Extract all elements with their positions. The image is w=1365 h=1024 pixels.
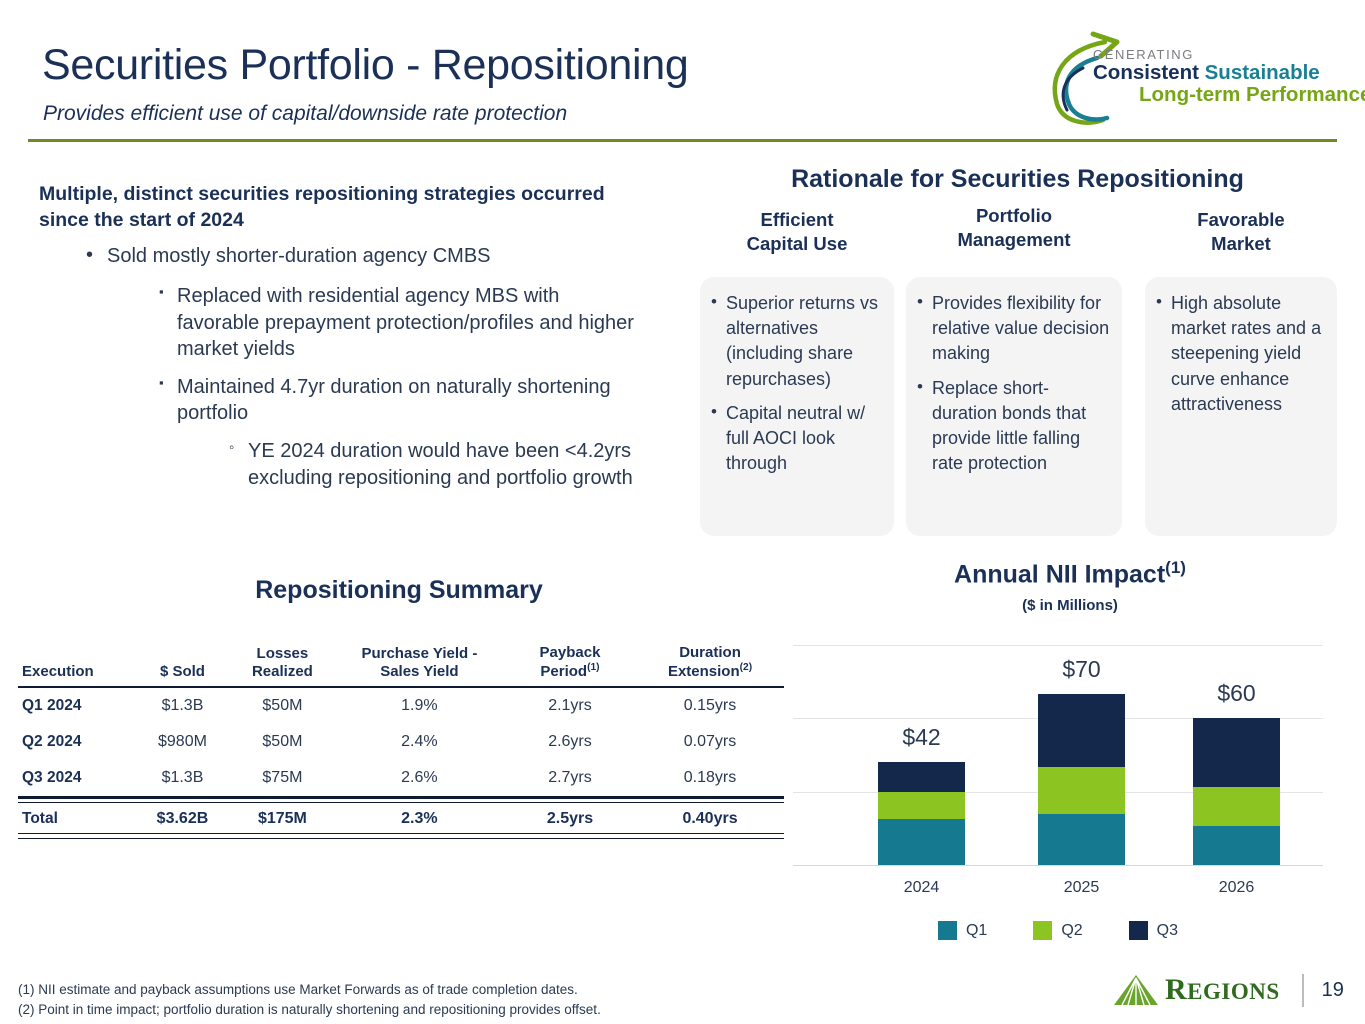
cell-execution: Q3 2024: [18, 760, 135, 798]
cell-duration: 0.07yrs: [636, 724, 784, 760]
table-total-bottom-rule: [18, 833, 784, 839]
chart-bar-2024: [878, 762, 965, 865]
cell-total-yield: 2.3%: [335, 798, 504, 838]
cell-total-duration: 0.40yrs: [636, 798, 784, 838]
col-duration-l1: Duration: [679, 644, 741, 661]
page-subtitle: Provides efficient use of capital/downsi…: [43, 102, 567, 126]
cell-duration: 0.15yrs: [636, 687, 784, 724]
cell-total-losses: $175M: [230, 798, 335, 838]
table-title: Repositioning Summary: [14, 576, 784, 605]
col-sold-l2: $ Sold: [160, 663, 205, 680]
col-yield-l1: Purchase Yield -: [361, 645, 477, 662]
col-duration-extension: Duration Extension(2): [636, 644, 784, 687]
col-losses-l2: Realized: [252, 663, 313, 680]
bullet-level3: YE 2024 duration would have been <4.2yrs…: [39, 438, 639, 491]
footnote-2: (2) Point in time impact; portfolio dura…: [18, 1000, 601, 1020]
table-total-top-rule: [18, 797, 784, 803]
rationale-card-heading-2-line2: Management: [957, 229, 1070, 250]
legend-item-q1: Q1: [938, 921, 987, 940]
footnote-1: (1) NII estimate and payback assumptions…: [18, 980, 601, 1000]
tagline-line2: Consistent Sustainable: [1093, 62, 1365, 84]
cell-duration: 0.18yrs: [636, 760, 784, 798]
table-total-row: Total $3.62B $175M 2.3% 2.5yrs 0.40yrs: [18, 798, 784, 838]
rationale-card-heading-3: Favorable Market: [1145, 208, 1337, 255]
legend-swatch-q3: [1129, 921, 1148, 940]
brand-divider: [1302, 974, 1304, 1007]
col-losses-realized: Losses Realized: [230, 644, 335, 687]
col-payback-sup: (1): [587, 662, 599, 673]
rationale-card-3-list: High absolute market rates and a steepen…: [1145, 277, 1337, 417]
tagline-generating: GENERATING: [1093, 48, 1365, 62]
rationale-card-heading-1-line2: Capital Use: [747, 233, 848, 254]
legend-swatch-q2: [1033, 921, 1052, 940]
cell-payback: 2.6yrs: [504, 724, 636, 760]
rationale-title: Rationale for Securities Repositioning: [700, 165, 1335, 194]
chart-title-sup: (1): [1165, 558, 1186, 577]
table-header-row: Execution $ Sold Losses Realized Purchas…: [18, 644, 784, 687]
col-duration-sup: (2): [740, 662, 752, 673]
chart-bar-2026: [1193, 718, 1280, 865]
table-row: Q3 2024 $1.3B $75M 2.6% 2.7yrs 0.18yrs: [18, 760, 784, 798]
chart-segment-q1-2026: [1193, 826, 1280, 865]
chart-segment-q1-2025: [1038, 814, 1125, 865]
cell-total-sold: $3.62B: [135, 798, 230, 838]
col-payback-period: Payback Period(1): [504, 644, 636, 687]
rationale-card-efficient-capital-use: Superior returns vs alternatives (includ…: [700, 277, 894, 536]
col-execution: Execution: [18, 644, 135, 687]
cell-losses: $75M: [230, 760, 335, 798]
col-payback-l2: Period: [540, 663, 587, 680]
rationale-card-portfolio-management: Provides flexibility for relative value …: [906, 277, 1122, 536]
col-duration-l2: Extension: [668, 663, 740, 680]
chart-segment-q1-2024: [878, 819, 965, 865]
col-sold: $ Sold: [135, 644, 230, 687]
rationale-card-heading-3-line2: Market: [1211, 233, 1271, 254]
bullet-level1-text: Sold mostly shorter-duration agency CMBS: [107, 243, 491, 269]
chart-baseline: [793, 865, 1323, 866]
cell-sold: $1.3B: [135, 760, 230, 798]
chart-bar-2025: [1038, 694, 1125, 865]
left-bullet-list: Sold mostly shorter-duration agency CMBS…: [39, 243, 639, 499]
chart-segment-q2-2024: [878, 792, 965, 819]
tagline-consistent: Consistent: [1093, 61, 1205, 84]
rationale-card-1-list: Superior returns vs alternatives (includ…: [700, 277, 894, 476]
footnotes: (1) NII estimate and payback assumptions…: [18, 980, 601, 1021]
chart-title: Annual NII Impact(1): [800, 558, 1340, 589]
tagline-longterm: Long-term Performance: [1139, 84, 1365, 106]
list-item: High absolute market rates and a steepen…: [1171, 291, 1327, 417]
cell-yield: 2.4%: [335, 724, 504, 760]
cell-payback: 2.7yrs: [504, 760, 636, 798]
rationale-card-heading-3-line1: Favorable: [1197, 209, 1284, 230]
rationale-card-heading-2-line1: Portfolio: [976, 205, 1052, 226]
bullet-level1: Sold mostly shorter-duration agency CMBS: [39, 243, 639, 269]
chart-value-label-2026: $60: [1177, 680, 1297, 707]
chart-segment-q3-2026: [1193, 718, 1280, 786]
cell-payback: 2.1yrs: [504, 687, 636, 724]
col-losses-l1: Losses: [257, 645, 309, 662]
legend-item-q2: Q2: [1033, 921, 1082, 940]
chart-category-label-2026: 2026: [1177, 879, 1297, 897]
col-execution-l2: Execution: [22, 663, 94, 680]
cell-losses: $50M: [230, 687, 335, 724]
chart-gridline: [793, 645, 1323, 646]
nii-impact-stacked-bar-chart: $422024$702025$602026: [793, 645, 1323, 865]
col-purchase-yield: Purchase Yield - Sales Yield: [335, 644, 504, 687]
regions-wordmark: REGIONS: [1165, 973, 1280, 1007]
cell-execution: Q2 2024: [18, 724, 135, 760]
table-row: Q2 2024 $980M $50M 2.4% 2.6yrs 0.07yrs: [18, 724, 784, 760]
table-body: Q1 2024 $1.3B $50M 1.9% 2.1yrs 0.15yrs Q…: [18, 687, 784, 837]
chart-value-label-2025: $70: [1022, 656, 1142, 683]
left-lead-text: Multiple, distinct securities reposition…: [39, 182, 619, 234]
cell-execution: Q1 2024: [18, 687, 135, 724]
rationale-card-favorable-market: High absolute market rates and a steepen…: [1145, 277, 1337, 536]
legend-label-q1: Q1: [966, 922, 987, 940]
legend-item-q3: Q3: [1129, 921, 1178, 940]
chart-segment-q2-2025: [1038, 767, 1125, 813]
regions-brand: REGIONS 19: [1113, 968, 1344, 1012]
cell-total-payback: 2.5yrs: [504, 798, 636, 838]
cell-yield: 2.6%: [335, 760, 504, 798]
legend-label-q3: Q3: [1157, 922, 1178, 940]
cell-sold: $980M: [135, 724, 230, 760]
list-item: Provides flexibility for relative value …: [932, 291, 1112, 367]
bullet-level2-a: Replaced with residential agency MBS wit…: [39, 283, 639, 363]
list-item: Capital neutral w/ full AOCI look throug…: [726, 401, 884, 477]
page-number: 19: [1322, 979, 1344, 1002]
chart-segment-q3-2025: [1038, 694, 1125, 767]
chart-subtitle: ($ in Millions): [800, 597, 1340, 614]
header-divider: [28, 139, 1337, 142]
chart-category-label-2025: 2025: [1022, 879, 1142, 897]
regions-wordmark-rest: EGIONS: [1187, 979, 1279, 1004]
chart-title-text: Annual NII Impact: [954, 560, 1165, 588]
chart-segment-q3-2024: [878, 762, 965, 791]
chart-legend: Q1 Q2 Q3: [793, 921, 1323, 940]
cell-yield: 1.9%: [335, 687, 504, 724]
chart-value-label-2024: $42: [862, 724, 982, 751]
repositioning-summary-table: Execution $ Sold Losses Realized Purchas…: [18, 644, 784, 837]
list-item: Replace short-duration bonds that provid…: [932, 376, 1112, 477]
slide: Securities Portfolio - Repositioning Pro…: [0, 0, 1365, 1024]
col-yield-l2: Sales Yield: [380, 663, 458, 680]
legend-swatch-q1: [938, 921, 957, 940]
rationale-card-heading-1-line1: Efficient: [761, 209, 834, 230]
rationale-card-2-list: Provides flexibility for relative value …: [906, 277, 1122, 476]
chart-segment-q2-2026: [1193, 787, 1280, 826]
rationale-card-heading-1: Efficient Capital Use: [700, 208, 894, 255]
regions-pyramid-icon: [1113, 973, 1159, 1007]
legend-label-q2: Q2: [1061, 922, 1082, 940]
page-title: Securities Portfolio - Repositioning: [42, 41, 688, 90]
cell-losses: $50M: [230, 724, 335, 760]
chart-category-label-2024: 2024: [862, 879, 982, 897]
tagline-sustainable: Sustainable: [1205, 61, 1320, 84]
table-head: Execution $ Sold Losses Realized Purchas…: [18, 644, 784, 687]
rationale-card-heading-2: Portfolio Management: [906, 204, 1122, 251]
col-payback-l1: Payback: [540, 644, 601, 661]
generating-tagline-logo: GENERATING Consistent Sustainable Long-t…: [1035, 28, 1335, 128]
cell-total-label: Total: [18, 798, 135, 838]
table-row: Q1 2024 $1.3B $50M 1.9% 2.1yrs 0.15yrs: [18, 687, 784, 724]
bullet-level2-b: Maintained 4.7yr duration on naturally s…: [39, 374, 639, 427]
cell-sold: $1.3B: [135, 687, 230, 724]
regions-wordmark-first: R: [1165, 973, 1187, 1006]
list-item: Superior returns vs alternatives (includ…: [726, 291, 884, 392]
